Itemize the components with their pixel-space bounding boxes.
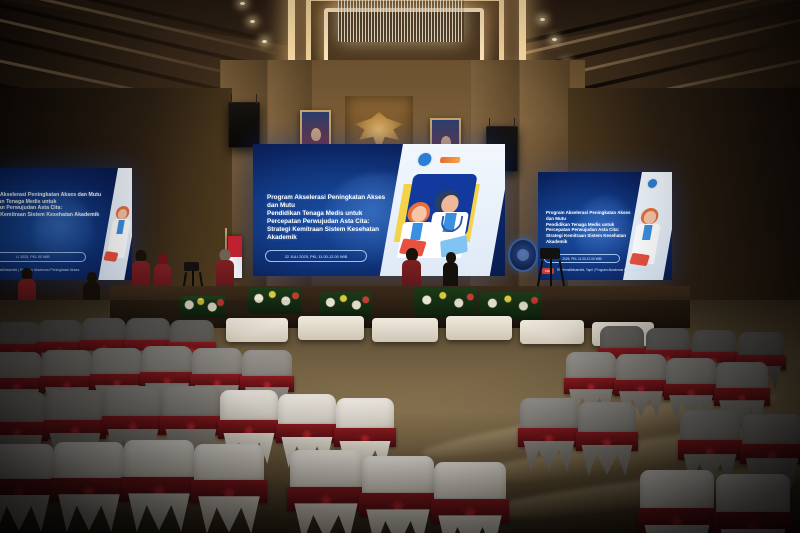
clipboard (629, 253, 650, 266)
doctor-female-illustration (106, 206, 132, 258)
floor-shadow-overlay (0, 300, 800, 533)
screen-date-badge: 22 JULI 2025, PKL 11.00-12.00 WIB (265, 250, 367, 262)
screen-title: m Akselerasi Peningkatan Akses dan Mutu … (0, 192, 106, 219)
downlight (262, 40, 267, 43)
clipboard (103, 251, 118, 262)
title-line: Program Akselerasi Peningkatan Akses dan… (267, 194, 397, 210)
downlight (240, 2, 245, 5)
title-line: m Akselerasi Peningkatan Akses dan Mutu (0, 192, 106, 199)
crystal-chandelier (338, 0, 464, 42)
title-line: Pendidikan Tenaga Medis untuk (267, 210, 397, 218)
screen-title: Program Akselerasi Peningkatan Akses dan… (546, 210, 634, 245)
title-line: atan Perwujudan Asta Cita: (0, 205, 106, 212)
portrait-face (311, 128, 321, 141)
screen-footer: RI, Kemdiktisaintek, Tapri | Program Aks… (557, 268, 671, 272)
downlight (250, 20, 255, 23)
conference-hall-photo: m Akselerasi Peningkatan Akses dan Mutu … (0, 0, 800, 533)
kemenkes-logo-icon (647, 179, 658, 188)
downlight (540, 18, 545, 21)
title-line: Strategi Kemitraan Sistem Kesehatan Akad… (267, 226, 397, 242)
title-line: Percepatan Perwujudan Asta Cita: (267, 218, 397, 226)
kemenkes-logo-icon (417, 153, 432, 166)
program-logo-icon (440, 157, 461, 163)
screen-title: Program Akselerasi Peningkatan Akses dan… (267, 194, 397, 242)
ceiling-speaker-left (228, 102, 260, 148)
title-line: gi Kemitraan Sistem Kesehatan Akademik (0, 212, 106, 219)
led-screen-left: m Akselerasi Peningkatan Akses dan Mutu … (0, 168, 132, 280)
title-line: Program Akselerasi Peningkatan Akses dan… (546, 210, 634, 222)
downlight (552, 38, 557, 41)
led-screen-main: Program Akselerasi Peningkatan Akses dan… (253, 144, 505, 276)
screen-date-badge: LI 2025, PKL 00 WIB (0, 252, 86, 262)
title-line: Strategi Kemitraan Sistem Kesehatan Akad… (546, 233, 634, 245)
